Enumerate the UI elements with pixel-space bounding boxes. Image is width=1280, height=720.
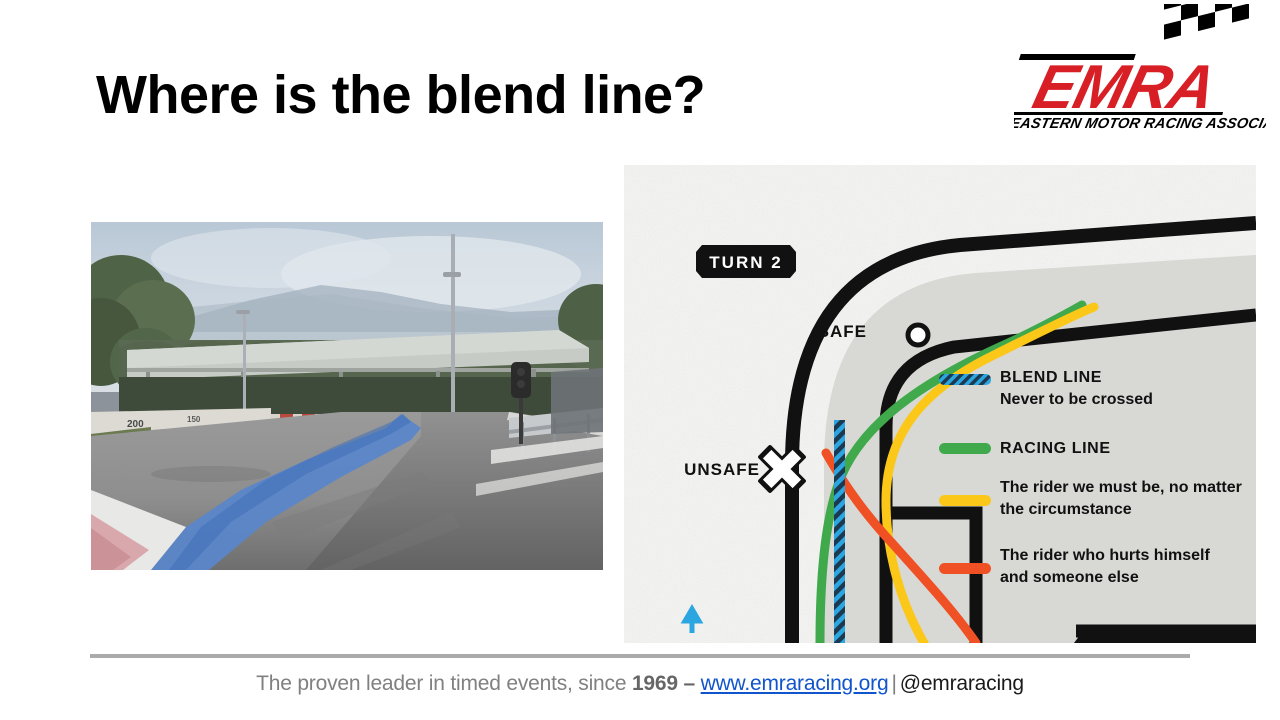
footer-year: 1969 [632, 672, 678, 695]
footer-dash: – [678, 672, 701, 695]
svg-text:EMRA: EMRA [1027, 53, 1223, 122]
distance-marker-150: 150 [187, 415, 201, 424]
safe-marker [908, 325, 928, 345]
logo-wordmark: EMRA [1027, 53, 1223, 122]
blend-line-stripe [834, 420, 845, 643]
blend-line-diagram: SAFE UNSAFE TURN 2 [624, 165, 1256, 643]
page-title: Where is the blend line? [96, 66, 705, 125]
legend-subtitle-2: the circumstance [1000, 501, 1132, 518]
legend-swatch-orange [939, 563, 991, 574]
unsafe-label: UNSAFE [684, 460, 760, 479]
legend-swatch-racing [939, 443, 991, 454]
legend-title-0: BLEND LINE [1000, 369, 1102, 386]
legend-swatch-blend [939, 374, 991, 385]
emra-logo: EMRA EASTERN MOTOR RACING ASSOCIATION [1014, 4, 1266, 132]
track-photo: 200 150 [91, 222, 603, 570]
footer-divider [90, 654, 1190, 658]
footer-separator: | [888, 672, 899, 695]
footer-handle: @emraracing [900, 672, 1024, 695]
footer-link[interactable]: www.emraracing.org [701, 672, 889, 695]
safe-label: SAFE [818, 322, 867, 341]
legend-title-3: The rider who hurts himself [1000, 547, 1210, 564]
turn-badge: TURN 2 [696, 245, 796, 278]
footer-text: The proven leader in timed events, since… [0, 672, 1280, 696]
svg-text:EASTERN MOTOR RACING ASSOCIATI: EASTERN MOTOR RACING ASSOCIATION [1014, 116, 1266, 132]
legend-swatch-yellow [939, 495, 991, 506]
legend-title-2: The rider we must be, no matter [1000, 479, 1242, 496]
footer-lead: The proven leader in timed events, since [256, 672, 632, 695]
legend-title-1: RACING LINE [1000, 440, 1111, 457]
legend-subtitle-0: Never to be crossed [1000, 391, 1153, 408]
checkered-flag-icon [1164, 4, 1249, 40]
legend-subtitle-3: and someone else [1000, 569, 1139, 586]
slide-canvas: Where is the blend line? [0, 0, 1280, 720]
turn-label: TURN 2 [709, 253, 782, 272]
